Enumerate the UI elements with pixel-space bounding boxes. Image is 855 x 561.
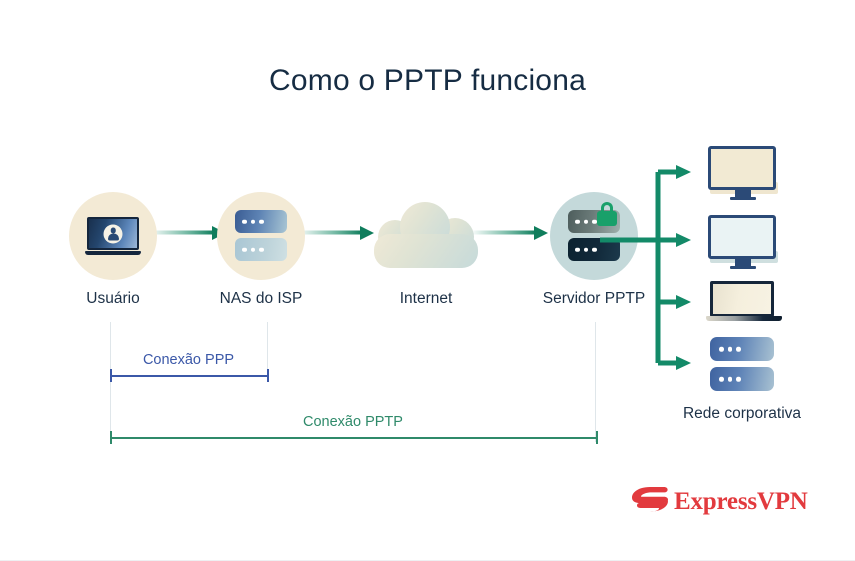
flow-node-label-internet: Internet	[366, 290, 486, 308]
expressvpn-mark-icon	[630, 484, 670, 514]
expressvpn-wordmark: ExpressVPN	[674, 488, 808, 516]
ppp-connection-bracket	[108, 368, 270, 387]
desktop-monitor-blue	[708, 215, 778, 267]
server-led-dots	[242, 219, 264, 224]
diagram-canvas: Como o PPTP funciona	[0, 0, 855, 561]
flow-node-label-usuario: Usuário	[53, 290, 173, 308]
laptop-base	[85, 251, 141, 255]
laptop-glyph	[85, 217, 141, 257]
flow-node-label-nas: NAS do ISP	[201, 290, 321, 308]
laptop-base	[706, 316, 782, 321]
monitor-base	[730, 197, 756, 200]
flow-node-usuario: Usuário	[53, 188, 173, 308]
expressvpn-logo[interactable]: ExpressVPN	[630, 484, 790, 522]
pptp-bracket-label: Conexão PPTP	[110, 414, 596, 430]
desktop-monitor-cream	[708, 146, 778, 198]
flow-node-internet: Internet	[366, 188, 486, 308]
server-led-dots	[242, 247, 264, 252]
monitor-base	[730, 266, 756, 269]
server-led-dots	[575, 219, 597, 224]
server-glyph	[235, 210, 287, 262]
server-rack-device	[710, 337, 774, 391]
server-led-dots	[719, 347, 741, 352]
server-tier-bottom	[710, 367, 774, 391]
user-avatar-icon	[104, 224, 123, 243]
laptop-device	[706, 281, 782, 323]
corporate-network-label: Rede corporativa	[622, 405, 855, 423]
server-rack-icon	[201, 188, 321, 284]
laptop-screen	[87, 217, 139, 250]
monitor-screen	[708, 146, 776, 190]
server-tier-top	[710, 337, 774, 361]
cloud-glyph	[374, 202, 478, 268]
page-title: Como o PPTP funciona	[0, 64, 855, 98]
laptop-screen	[710, 281, 774, 317]
laptop-user-icon	[53, 188, 173, 284]
pptp-connection-bracket	[108, 430, 600, 449]
corporate-network-bus	[596, 150, 696, 390]
flow-node-nas: NAS do ISP	[201, 188, 321, 308]
server-tier-bottom	[235, 238, 287, 261]
server-tier-top	[235, 210, 287, 233]
server-led-dots	[719, 377, 741, 382]
ppp-bracket-label: Conexão PPP	[110, 352, 267, 368]
cloud-icon	[366, 188, 486, 284]
monitor-screen	[708, 215, 776, 259]
server-led-dots	[575, 247, 597, 252]
